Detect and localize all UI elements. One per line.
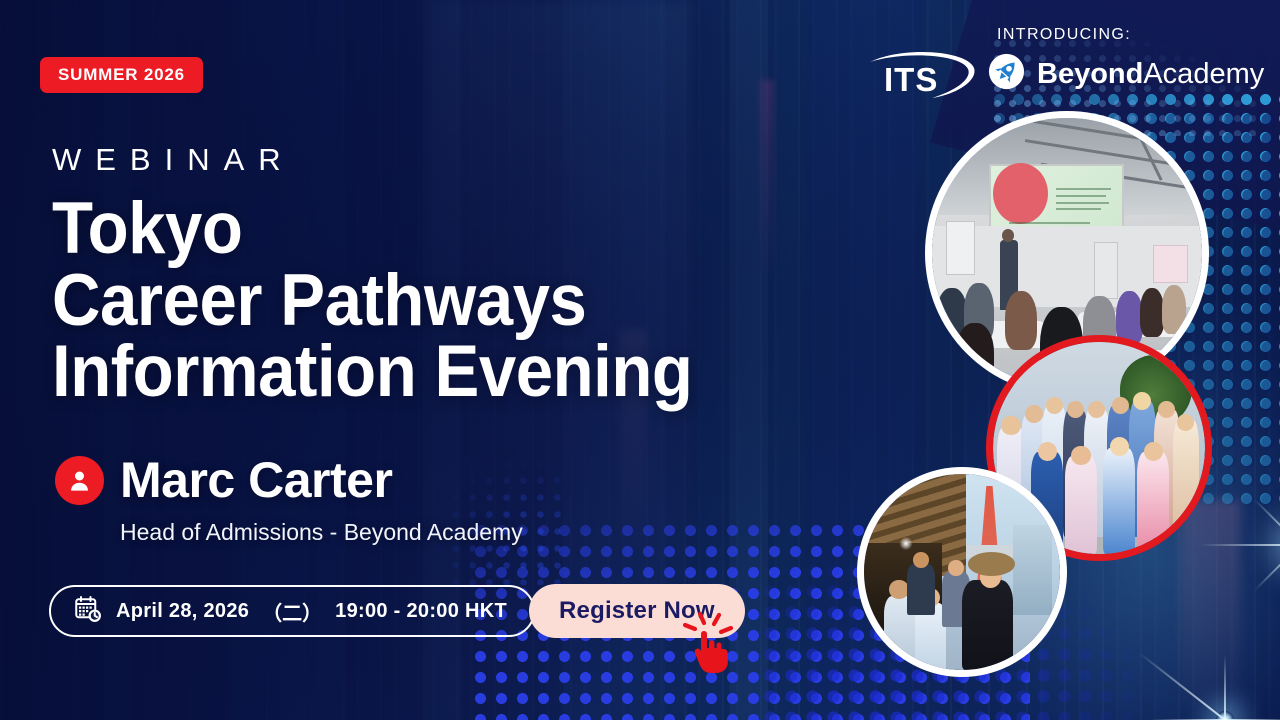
beyond-academy-logo: BeyondAcademy bbox=[988, 53, 1264, 95]
academy-word: Academy bbox=[1143, 58, 1264, 90]
person-icon bbox=[55, 456, 104, 505]
page-title: Tokyo Career Pathways Information Evenin… bbox=[52, 193, 806, 408]
event-time: 19:00 - 20:00 HKT bbox=[335, 600, 507, 623]
click-hand-icon bbox=[680, 612, 736, 679]
tokyo-tower-students-photo bbox=[864, 474, 1060, 670]
event-datetime-bar: April 28, 2026 （二） 19:00 - 20:00 HKT bbox=[49, 585, 535, 637]
speaker-role: Head of Admissions - Beyond Academy bbox=[120, 519, 523, 546]
beyond-word: Beyond bbox=[1037, 58, 1143, 90]
svg-text:ITS: ITS bbox=[884, 61, 938, 98]
calendar-clock-icon bbox=[73, 594, 103, 629]
introducing-label: INTRODUCING: bbox=[997, 26, 1131, 44]
rocket-icon bbox=[988, 53, 1025, 95]
its-logo: ITS bbox=[862, 48, 977, 109]
event-weekday: （二） bbox=[262, 597, 322, 626]
event-date: April 28, 2026 bbox=[116, 600, 249, 623]
title-line-1: Tokyo bbox=[52, 193, 806, 265]
season-badge: SUMMER 2026 bbox=[40, 57, 203, 93]
webinar-promo-banner: SUMMER 2026 WEBINAR Tokyo Career Pathway… bbox=[0, 0, 1280, 720]
speaker-name: Marc Carter bbox=[120, 455, 392, 505]
beyond-academy-wordmark: BeyondAcademy bbox=[1037, 60, 1264, 89]
event-type-kicker: WEBINAR bbox=[52, 142, 295, 178]
title-line-3: Information Evening bbox=[52, 336, 806, 408]
title-line-2: Career Pathways bbox=[52, 265, 806, 337]
speaker-block: Marc Carter bbox=[55, 455, 392, 505]
